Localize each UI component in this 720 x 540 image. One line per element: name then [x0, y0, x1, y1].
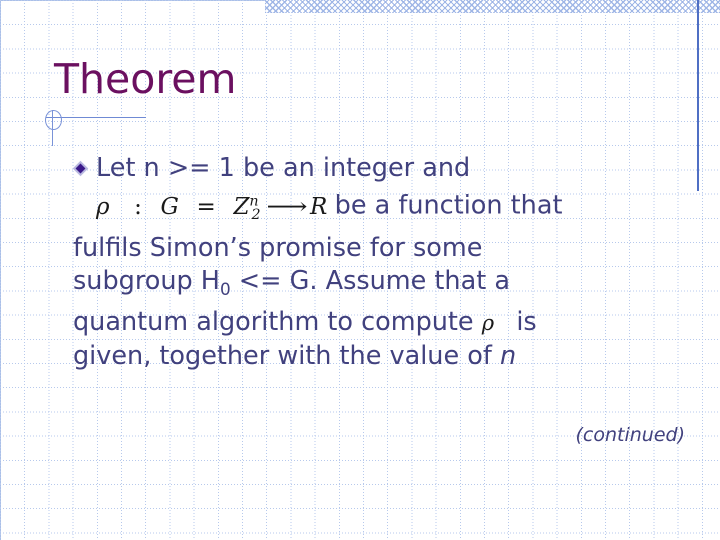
math-rho-inline: ρ	[482, 311, 494, 335]
body-line-1: Let n >= 1 be an integer and	[73, 152, 673, 185]
math-group: G	[161, 194, 179, 220]
math-arrow: ⟶	[266, 191, 302, 224]
body-line-3: fulfils Simon’s promise for some	[73, 232, 673, 265]
bullet-paragraph: Let n >= 1 be an integer and ρ : G = Zn2…	[73, 152, 673, 373]
body-line-3-text: fulfils Simon’s promise for some	[73, 233, 482, 263]
right-vertical-accent-rule	[697, 0, 699, 191]
page-title: Theorem	[54, 58, 236, 101]
continued-note: (continued)	[0, 424, 685, 446]
title-circle-ornament	[45, 110, 62, 130]
math-rho: ρ	[96, 194, 110, 220]
body-line-2-text: be a function that	[335, 191, 563, 221]
subgroup-subscript: 0	[220, 279, 231, 299]
math-equals: =	[197, 194, 216, 220]
body-line-5-text-a: quantum algorithm to compute	[73, 307, 474, 337]
body-line-1-text: Let n >= 1 be an integer and	[96, 153, 470, 183]
math-expression: ρ : G = Zn2 ⟶ R	[96, 194, 335, 220]
body-line-5-text-b: is	[516, 307, 536, 337]
body-line-4-text-b: <= G. Assume that a	[231, 266, 510, 296]
math-range: R	[310, 194, 327, 220]
body-line-5: quantum algorithm to compute ρ is	[73, 306, 673, 340]
diamond-bullet-icon	[73, 161, 88, 176]
body-line-2: ρ : G = Zn2 ⟶ R be a function that	[73, 185, 673, 232]
math-Z-subscript: 2	[251, 207, 260, 223]
variable-n: n	[500, 341, 516, 371]
top-banner-pattern	[265, 0, 720, 13]
body-line-6: given, together with the value of n	[73, 340, 673, 373]
body-line-4: subgroup H0 <= G. Assume that a	[73, 265, 673, 306]
body-line-4-text-a: subgroup H	[73, 266, 220, 296]
body-line-6-text: given, together with the value of	[73, 341, 492, 371]
math-Z: Z	[233, 194, 249, 220]
body-text-block: Let n >= 1 be an integer and ρ : G = Zn2…	[73, 152, 673, 373]
math-colon: :	[134, 194, 142, 220]
slide-canvas: Theorem Let n >= 1 be an integer and ρ :…	[0, 0, 720, 540]
